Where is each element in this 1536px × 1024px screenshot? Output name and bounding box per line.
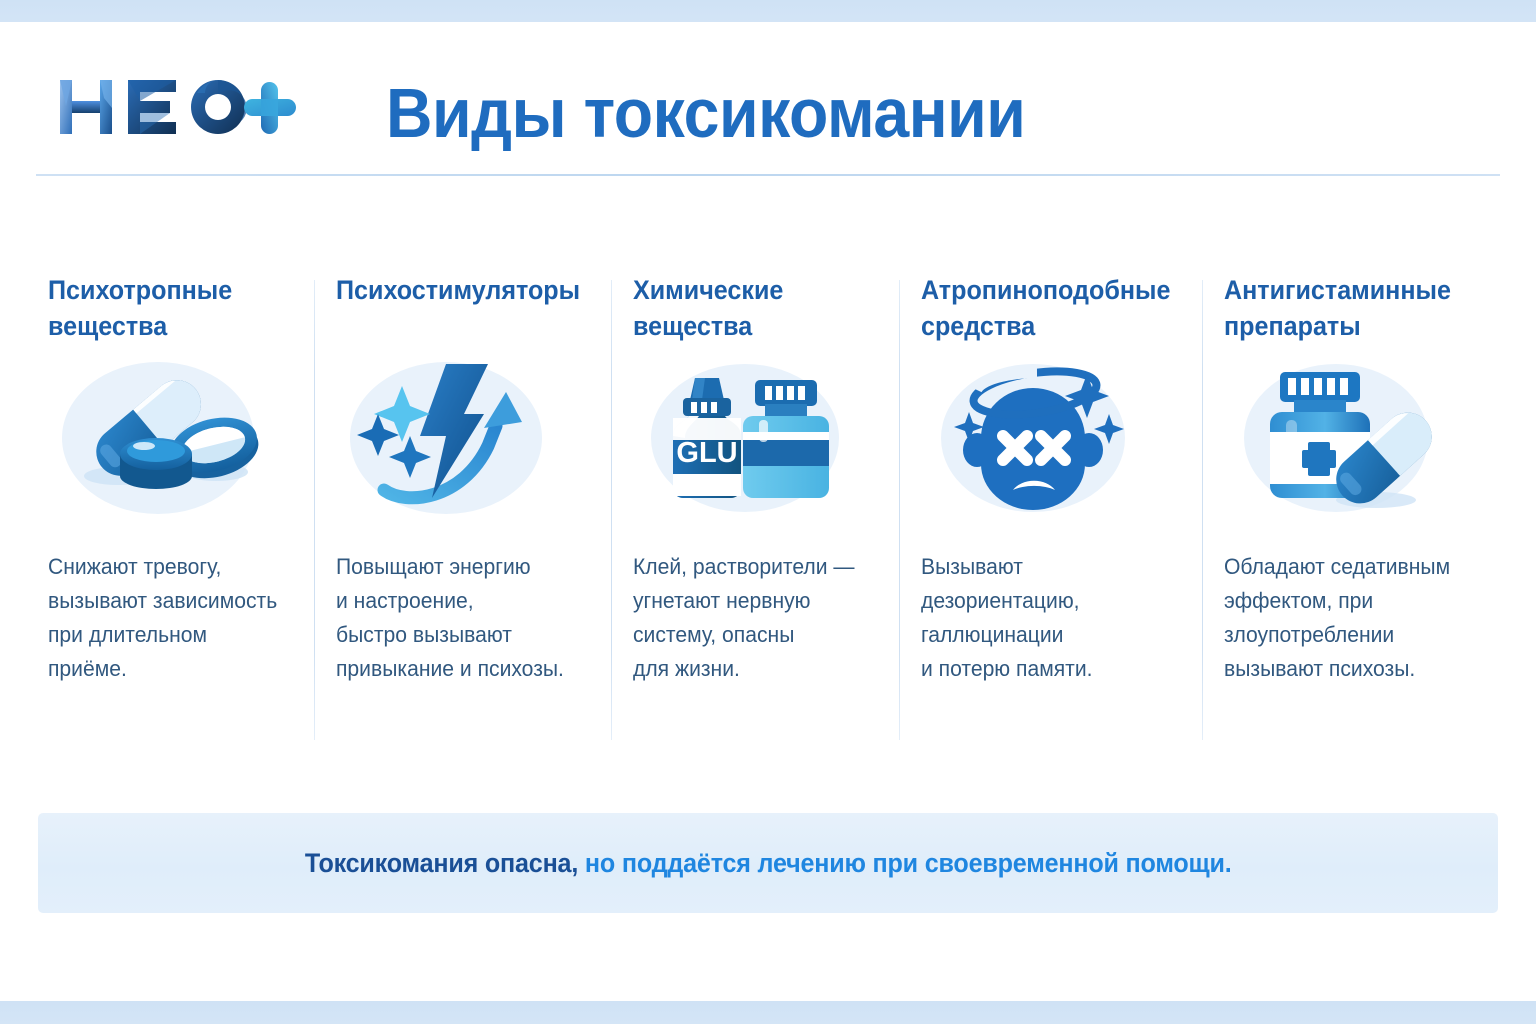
category-description: Повыщают энергию и настроение, быстро вы…	[336, 550, 588, 686]
category-title: Психотропные вещества	[48, 272, 285, 346]
category-title: Психостимуляторы	[336, 272, 580, 346]
lightning-sparkle-arrow-icon	[336, 350, 598, 528]
category-title: Химические вещества	[633, 272, 870, 346]
category-chemicals: Химические вещества	[621, 272, 909, 742]
footer-message-strong: Токсикомания опасна,	[305, 848, 578, 878]
category-description: Вызывают дезориентацию, галлюцинации и п…	[921, 550, 1178, 686]
category-description: Обладают седативным эффектом, при злоупо…	[1224, 550, 1468, 686]
category-description: Клей, растворители — угнетают нервную си…	[633, 550, 877, 686]
category-psychotropic: Психотропные вещества	[36, 272, 324, 742]
glue-label: GLU	[676, 437, 737, 469]
category-psychostimulants: Психостимуляторы	[324, 272, 620, 742]
medicine-bottle-capsule-icon	[1224, 350, 1478, 528]
neo-plus-logo	[46, 68, 298, 146]
category-title: Атропиноподобные средства	[921, 272, 1170, 346]
infographic-page: Виды токсикомании Психотропные вещества	[0, 0, 1536, 1024]
glue-solvent-bottles-icon: GLU	[633, 350, 887, 528]
bottom-decorative-band	[0, 1001, 1536, 1024]
category-atropine-like: Атропиноподобные средства	[909, 272, 1211, 742]
header-divider	[36, 174, 1500, 176]
footer-message-light: но поддаётся лечению при своевременной п…	[578, 848, 1231, 878]
category-title: Антигистаминные препараты	[1224, 272, 1461, 346]
category-description: Снижают тревогу, вызывают зависимость пр…	[48, 550, 292, 686]
footer-message: Токсикомания опасна, но поддаётся лечени…	[305, 848, 1232, 879]
categories-row: Психотропные вещества	[36, 272, 1500, 742]
page-title: Виды токсикомании	[386, 74, 1025, 152]
footer-banner: Токсикомания опасна, но поддаётся лечени…	[38, 813, 1498, 913]
category-antihistamines: Антигистаминные препараты	[1212, 272, 1500, 742]
pills-capsule-icon	[48, 350, 302, 528]
neo-plus-logo-icon	[46, 68, 298, 146]
top-decorative-band	[0, 0, 1536, 22]
dizzy-head-icon	[921, 350, 1189, 528]
page-header: Виды токсикомании	[0, 22, 1536, 196]
